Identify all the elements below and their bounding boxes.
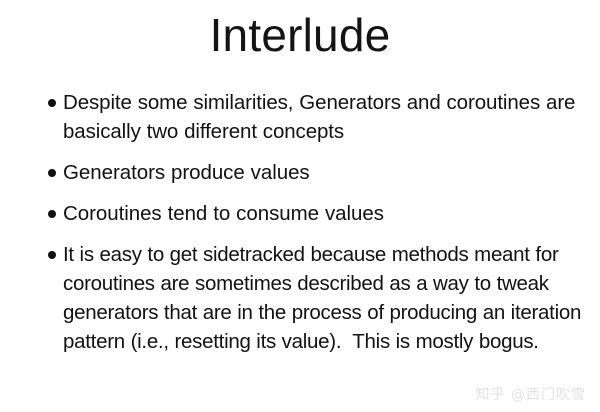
bullet-dot-icon (42, 88, 63, 117)
bullet-text: It is easy to get sidetracked because me… (63, 240, 594, 356)
bullet-text: Generators produce values (63, 158, 594, 187)
bullet-dot-icon (42, 158, 63, 187)
slide-canvas: Interlude Despite some similarities, Gen… (0, 0, 600, 412)
list-item: Generators produce values (42, 158, 594, 187)
bullet-text: Coroutines tend to consume values (63, 199, 594, 228)
list-item: Coroutines tend to consume values (42, 199, 594, 228)
page-title: Interlude (0, 8, 600, 62)
list-item: Despite some similarities, Generators an… (42, 88, 594, 146)
bullet-dot-icon (42, 199, 63, 228)
watermark: 知乎 @西门吹雪 (476, 384, 586, 404)
bullet-text: Despite some similarities, Generators an… (63, 88, 594, 146)
bullet-dot-icon (42, 240, 63, 269)
list-item: It is easy to get sidetracked because me… (42, 240, 594, 356)
bullet-list: Despite some similarities, Generators an… (42, 88, 594, 356)
